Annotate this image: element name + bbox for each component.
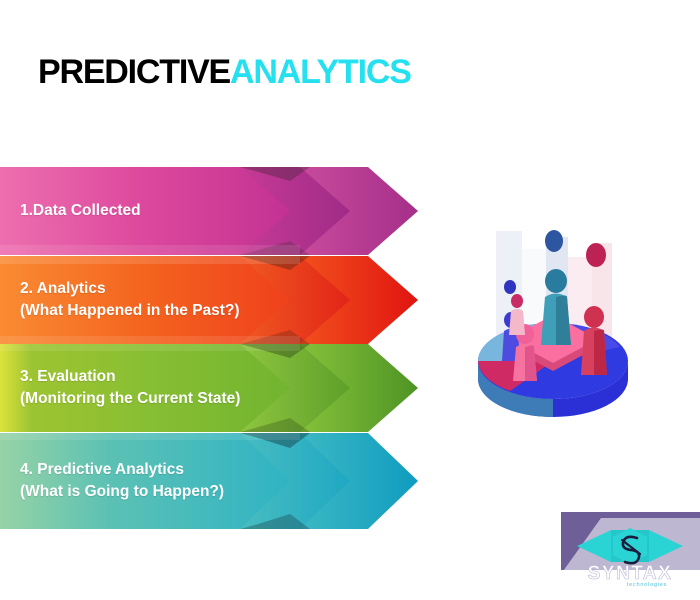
page-title-word-predictive: PREDICTIVE	[38, 53, 230, 91]
chevron-shape-3	[0, 344, 420, 432]
head-crimson-top	[586, 243, 606, 267]
isometric-team-illustration	[470, 227, 636, 433]
person-red-right	[581, 306, 607, 375]
head-blue-top	[545, 230, 563, 252]
head-blue-left	[504, 280, 516, 294]
logo-wordmark: SYNTAX	[588, 563, 673, 584]
process-step-3[interactable]: 3. Evaluation (Monitoring the Current St…	[0, 344, 420, 432]
person-teal	[541, 269, 571, 345]
brand-logo[interactable]: SYNTAX technologies	[561, 512, 700, 588]
page-title-word-analytics: ANALYTICS	[230, 53, 411, 91]
process-step-2[interactable]: 2. Analytics (What Happened in the Past?…	[0, 256, 420, 344]
isometric-team-svg	[470, 227, 636, 433]
process-step-4[interactable]: 4. Predictive Analytics (What is Going t…	[0, 433, 420, 529]
logo-tagline: technologies	[627, 582, 667, 588]
chevron-shape-4	[0, 433, 420, 529]
process-step-1[interactable]: 1.Data Collected	[0, 167, 420, 255]
process-flow-chevrons: 1.Data Collected	[0, 167, 420, 529]
brand-logo-svg: SYNTAX technologies	[561, 512, 700, 588]
chevron-shape-1	[0, 167, 420, 255]
chevron-shape-2	[0, 256, 420, 344]
person-magenta-left	[509, 294, 525, 335]
page-title: PREDICTIVEANALYTICS	[38, 52, 411, 92]
